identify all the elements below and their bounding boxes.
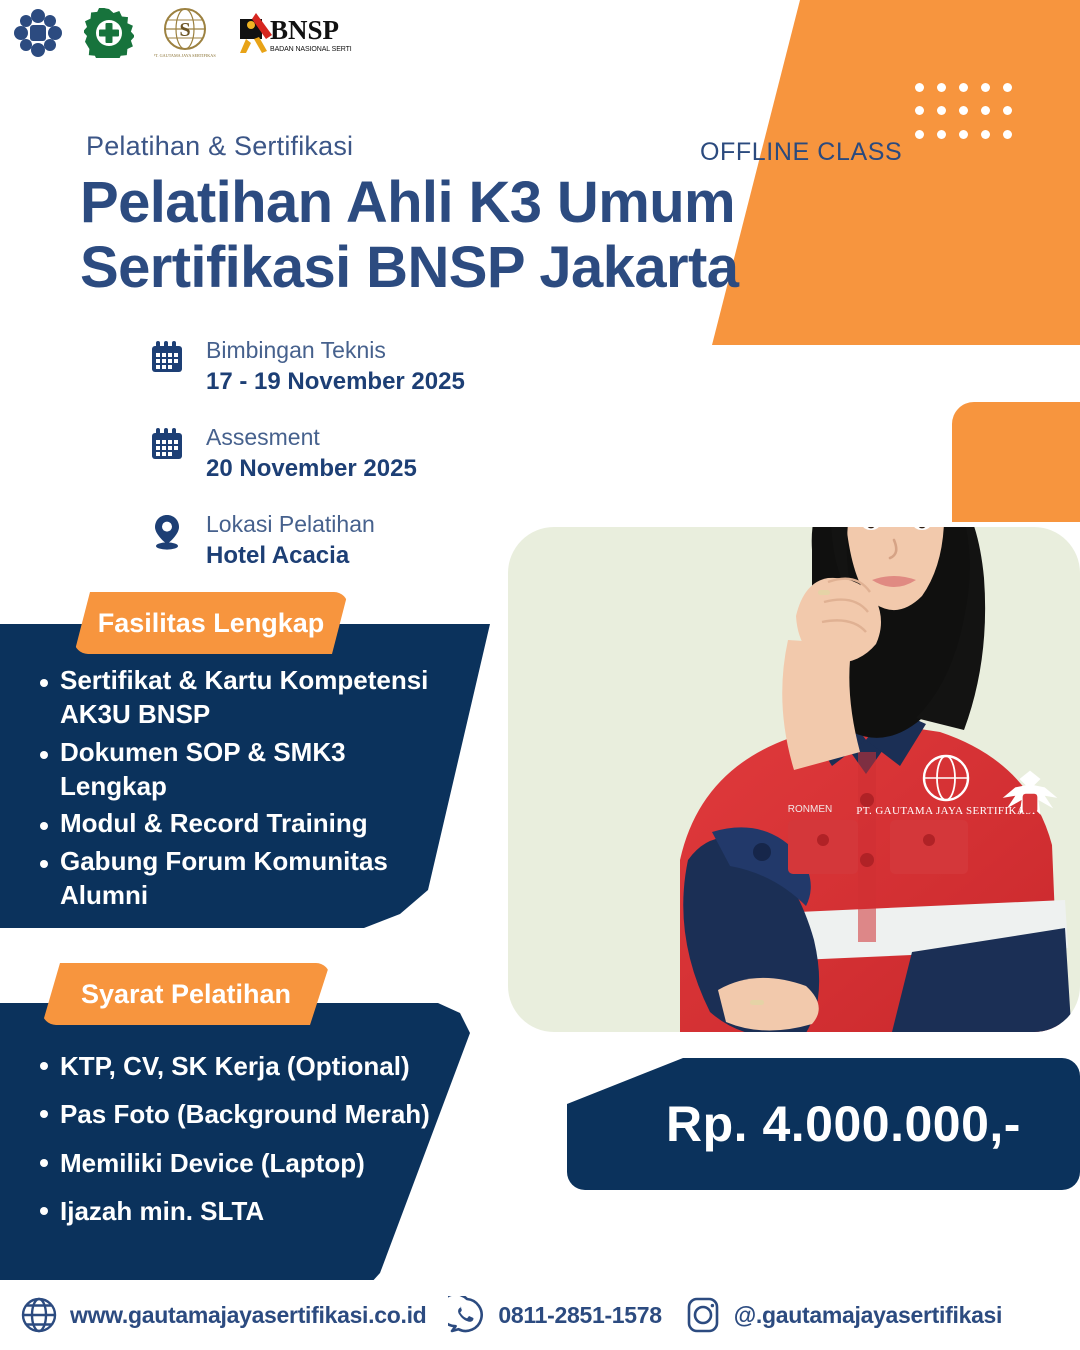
footer-instagram[interactable]: @.gautamajayasertifikasi (684, 1296, 1002, 1334)
whatsapp-icon (448, 1296, 486, 1334)
list-item: Sertifikat & Kartu Kompetensi AK3U BNSP (30, 663, 450, 732)
info-row-lokasi: Lokasi Pelatihan Hotel Acacia (148, 510, 568, 571)
info-label: Assesment (206, 423, 417, 452)
svg-text:RONMEN: RONMEN (788, 804, 832, 815)
globe-icon (20, 1296, 58, 1334)
requirements-list: KTP, CV, SK Kerja (Optional) Pas Foto (B… (30, 1046, 460, 1239)
info-row-bimbingan: Bimbingan Teknis 17 - 19 November 2025 (148, 336, 568, 397)
list-item: Ijazah min. SLTA (30, 1191, 460, 1231)
instagram-handle: @.gautamajayasertifikasi (734, 1302, 1002, 1329)
requirements-badge: Syarat Pelatihan (42, 963, 330, 1025)
info-label: Bimbingan Teknis (206, 336, 465, 365)
list-item: Modul & Record Training (30, 806, 450, 840)
location-pin-icon (148, 510, 186, 550)
facilities-badge: Fasilitas Lengkap (74, 592, 348, 654)
price-amount: Rp. 4.000.000,- (626, 1095, 1021, 1153)
list-item: Dokumen SOP & SMK3 Lengkap (30, 735, 450, 804)
event-info-list: Bimbingan Teknis 17 - 19 November 2025 A… (148, 336, 568, 597)
price-box: Rp. 4.000.000,- (567, 1058, 1080, 1190)
svg-text:S: S (179, 19, 190, 41)
k3-gear-logo (84, 8, 134, 58)
kemnaker-logo (12, 7, 64, 59)
list-item: Memiliki Device (Laptop) (30, 1143, 460, 1183)
list-item: KTP, CV, SK Kerja (Optional) (30, 1046, 460, 1086)
list-item: Gabung Forum Komunitas Alumni (30, 844, 450, 913)
page-title: Pelatihan Ahli K3 Umum Sertifikasi BNSP … (80, 171, 738, 301)
facilities-list: Sertifikat & Kartu Kompetensi AK3U BNSP … (30, 663, 450, 915)
instagram-icon (684, 1296, 722, 1334)
orange-header-shape (712, 0, 1080, 345)
eyebrow-text: Pelatihan & Sertifikasi (86, 131, 353, 162)
svg-text:BADAN NASIONAL SERTIFIKASI PRO: BADAN NASIONAL SERTIFIKASI PROFESI (270, 46, 352, 53)
info-label: Lokasi Pelatihan (206, 510, 375, 539)
dot-grid-decoration (908, 76, 1018, 146)
bnsp-logo: BNSP BADAN NASIONAL SERTIFIKASI PROFESI (236, 9, 352, 57)
website-text: www.gautamajayasertifikasi.co.id (70, 1302, 426, 1329)
svg-text:PT. GAUTAMA JAYA SERTIFIKASI: PT. GAUTAMA JAYA SERTIFIKASI (154, 53, 216, 58)
info-value: 17 - 19 November 2025 (206, 366, 465, 397)
trainee-photo: PT. GAUTAMA JAYA SERTIFIKASI RONMEN (560, 300, 1080, 1040)
info-value: 20 November 2025 (206, 453, 417, 484)
footer-website[interactable]: www.gautamajayasertifikasi.co.id (20, 1296, 426, 1334)
info-value: Hotel Acacia (206, 540, 375, 571)
offline-class-tag: OFFLINE CLASS (700, 138, 902, 167)
footer-contact-bar: www.gautamajayasertifikasi.co.id 0811-28… (0, 1280, 1080, 1350)
svg-text:BNSP: BNSP (270, 15, 339, 45)
footer-whatsapp[interactable]: 0811-2851-1578 (448, 1296, 661, 1334)
gautama-jaya-logo: S PT. GAUTAMA JAYA SERTIFIKASI (154, 5, 216, 61)
info-row-assesment: Assesment 20 November 2025 (148, 423, 568, 484)
calendar-icon (148, 423, 186, 461)
list-item: Pas Foto (Background Merah) (30, 1094, 460, 1134)
certification-logos: S PT. GAUTAMA JAYA SERTIFIKASI BNSP BADA… (0, 0, 360, 66)
whatsapp-number: 0811-2851-1578 (498, 1302, 661, 1329)
calendar-icon (148, 336, 186, 374)
